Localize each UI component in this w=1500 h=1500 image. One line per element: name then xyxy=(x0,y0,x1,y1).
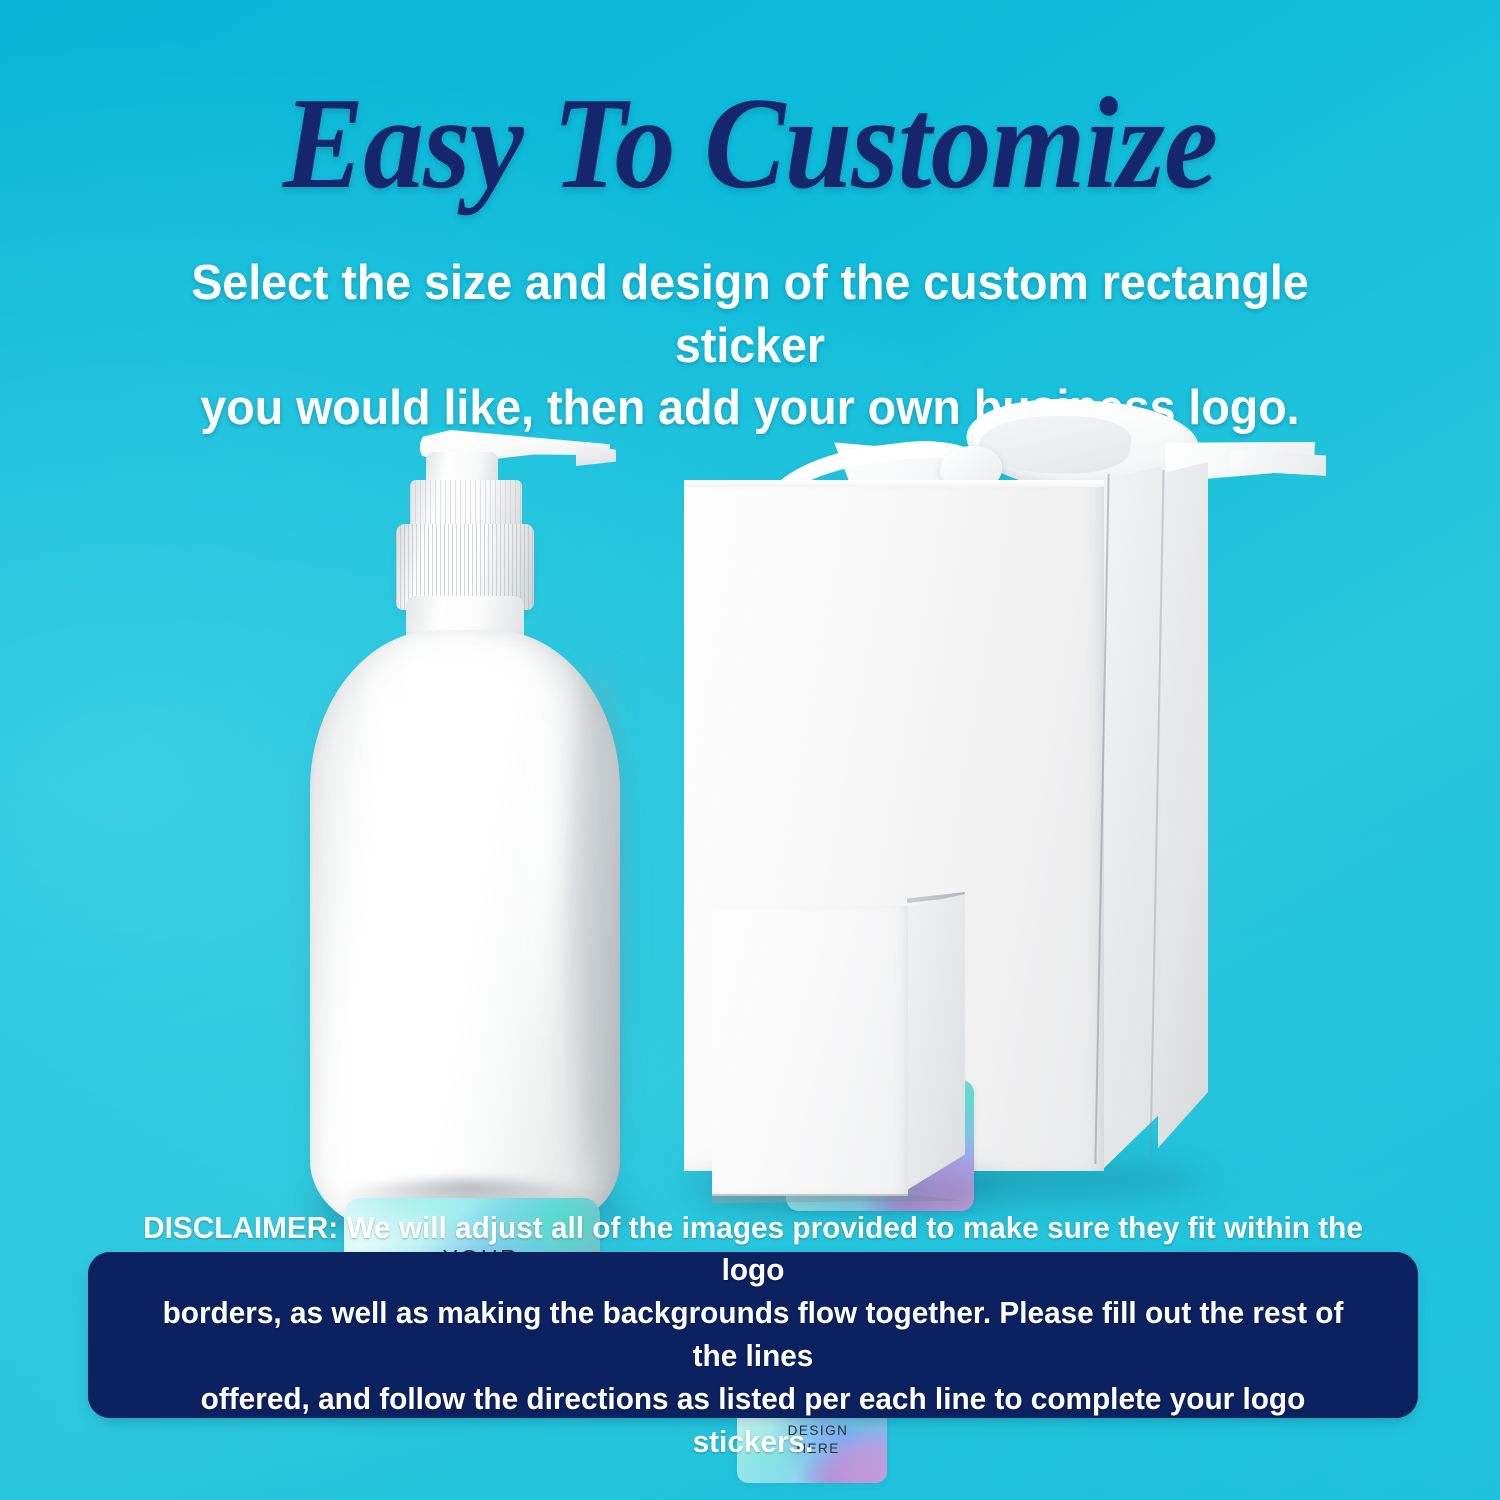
bottle-gloss-highlight-left xyxy=(358,670,416,1140)
pump-nozzle-tip xyxy=(576,444,616,466)
small-box-side-panel xyxy=(907,894,965,1190)
promo-banner: Easy To Customize Select the size and de… xyxy=(0,0,1500,1500)
pump-bottle-mockup xyxy=(300,420,640,1240)
bottle-gloss-highlight-right xyxy=(524,720,560,1050)
subtitle-line-1: Select the size and design of the custom… xyxy=(121,252,1379,377)
page-title: Easy To Customize xyxy=(53,78,1448,209)
bottle-shade-highlight xyxy=(568,670,622,1170)
disclaimer-panel: DISCLAIMER: We will adjust all of the im… xyxy=(88,1252,1418,1418)
disclaimer-line-1: DISCLAIMER: We will adjust all of the im… xyxy=(141,1207,1364,1293)
gift-box-lid-line xyxy=(684,484,1104,486)
small-box-front-panel xyxy=(712,906,908,1196)
disclaimer-line-2: borders, as well as making the backgroun… xyxy=(141,1292,1364,1378)
disclaimer-line-3: offered, and follow the directions as li… xyxy=(141,1378,1364,1464)
disclaimer-text: DISCLAIMER: We will adjust all of the im… xyxy=(115,1207,1392,1464)
product-mockup-scene: YOUR DESIGN HERE YOUR DESIGN HERE xyxy=(0,380,1500,1260)
small-box-mockup xyxy=(712,898,982,1198)
gift-box-back-panel xyxy=(1158,462,1208,1162)
